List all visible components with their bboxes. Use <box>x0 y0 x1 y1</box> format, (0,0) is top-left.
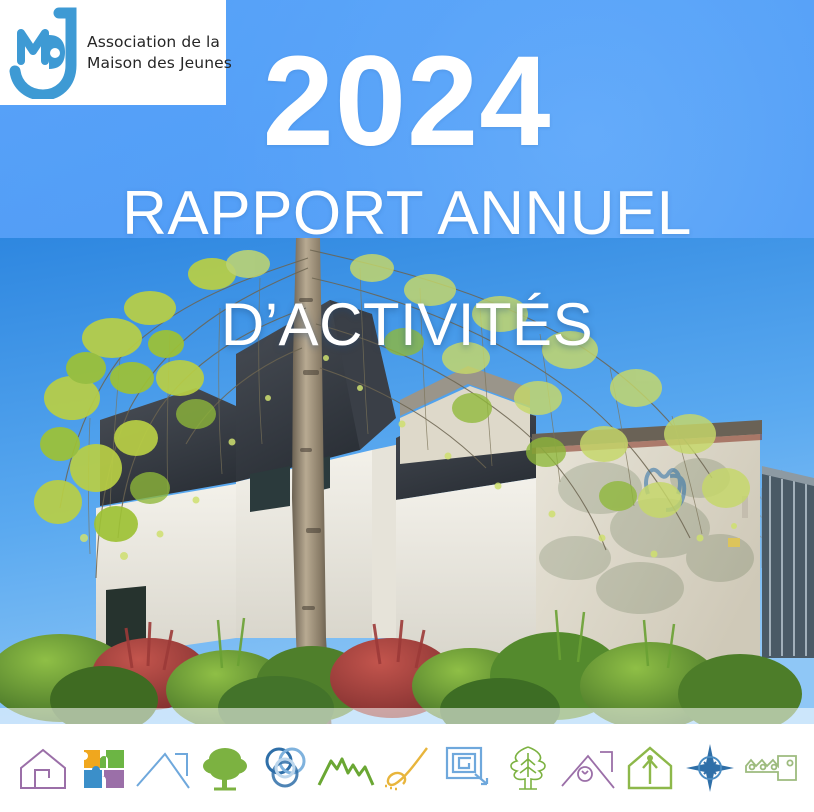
mountain-peaks-icon <box>317 739 375 797</box>
mdj-logo-icon <box>9 7 81 99</box>
report-cover: 2024 RAPPORT ANNUEL D’ACTIVITÉS Associat… <box>0 0 814 812</box>
house-outline-icon <box>14 739 72 797</box>
roof-line-icon <box>135 739 193 797</box>
logo-box: Association de la Maison des Jeunes <box>0 0 226 105</box>
building-photograph <box>0 238 814 733</box>
roof-clock-icon <box>560 739 618 797</box>
compass-rose-icon <box>681 739 739 797</box>
swirl-loop-icon <box>378 739 436 797</box>
partner-icon-strip <box>0 724 814 812</box>
tree-filled-icon <box>196 739 254 797</box>
house-arrow-icon <box>621 739 679 797</box>
logo-name-line-2: Maison des Jeunes <box>87 53 232 73</box>
puzzle-pieces-icon <box>75 739 133 797</box>
interlocking-circles-icon <box>257 739 315 797</box>
logo-name-line-1: Association de la <box>87 32 232 52</box>
square-spiral-arrow-icon <box>439 739 497 797</box>
tree-outline-icon <box>499 739 557 797</box>
logo-name: Association de la Maison des Jeunes <box>87 32 232 73</box>
key-outline-icon <box>742 739 800 797</box>
